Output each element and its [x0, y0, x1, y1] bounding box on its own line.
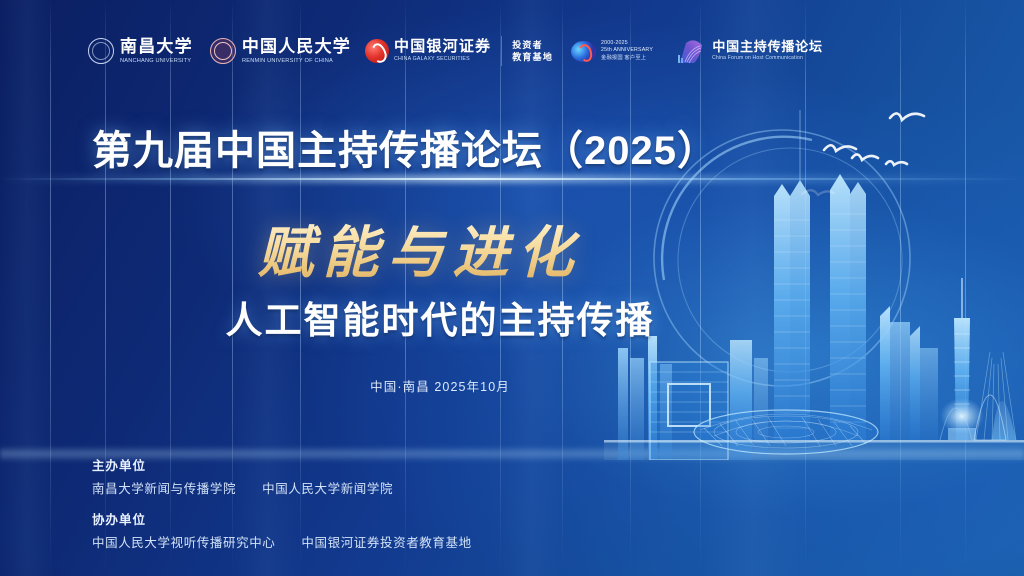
logo-25th-anniversary: 2000-2025 25th ANNIVERSARY 金融报国 客户至上 [571, 29, 656, 73]
poster-canvas: 南昌大学 NANCHANG UNIVERSITY 中国人民大学 RENMIN U… [0, 0, 1024, 576]
credit-label-co-organizers: 协办单位 [92, 509, 472, 528]
logo-renmin-university: 中国人民大学 RENMIN UNIVERSITY OF CHINA [210, 29, 351, 73]
credit-group-organizers: 主办单位 南昌大学新闻与传播学院 中国人民大学新闻学院 [92, 455, 472, 497]
title-light-streak [0, 178, 1024, 180]
flying-birds-graphic [794, 80, 994, 210]
investor-education-line1: 投资者 [512, 41, 553, 50]
seal-emblem-icon [210, 38, 236, 64]
credit-item: 中国人民大学新闻学院 [262, 478, 393, 497]
logo-renmin-university-en: RENMIN UNIVERSITY OF CHINA [242, 58, 345, 64]
galaxy-swirl-icon [365, 39, 389, 63]
credit-label-organizers: 主办单位 [92, 455, 472, 474]
page-title: 第九届中国主持传播论坛（2025） [92, 118, 718, 176]
background-vertical-line [965, 0, 966, 576]
logo-renmin-university-cn: 中国人民大学 [242, 38, 351, 55]
sponsor-logo-bar: 南昌大学 NANCHANG UNIVERSITY 中国人民大学 RENMIN U… [88, 27, 823, 75]
credit-item: 中国人民大学视听传播研究中心 [92, 532, 275, 551]
logo-nanchang-university-cn: 南昌大学 [120, 38, 196, 55]
logo-china-forum-host-communication: 中国主持传播论坛 China Forum on Host Communicati… [676, 29, 822, 73]
logo-divider [501, 36, 502, 66]
title-light-streak-glow [0, 175, 1024, 183]
logo-galaxy-en: CHINA GALAXY SECURITIES [394, 57, 485, 62]
logo-nanchang-university: 南昌大学 NANCHANG UNIVERSITY [88, 29, 196, 73]
forum-wing-icon [676, 37, 706, 65]
seal-emblem-icon [88, 38, 114, 64]
credit-group-co-organizers: 协办单位 中国人民大学视听传播研究中心 中国银河证券投资者教育基地 [92, 509, 472, 551]
anniversary-en: 25th ANNIVERSARY [601, 48, 653, 53]
credit-item: 中国银河证券投资者教育基地 [301, 532, 471, 551]
logo-nanchang-university-en: NANCHANG UNIVERSITY [120, 58, 191, 64]
venue-date-text: 中国·南昌 2025年10月 [0, 376, 880, 395]
anniversary-slogan: 金融报国 客户至上 [601, 56, 653, 61]
credit-item: 南昌大学新闻与传播学院 [92, 478, 236, 497]
logo-forum-en: China Forum on Host Communication [712, 56, 816, 61]
anniversary-years: 2000-2025 [601, 41, 653, 46]
logo-china-galaxy-securities: 中国银河证券 CHINA GALAXY SECURITIES 投资者 教育基地 [365, 29, 553, 73]
logo-forum-cn: 中国主持传播论坛 [712, 40, 822, 53]
logo-galaxy-cn: 中国银河证券 [394, 39, 491, 54]
background-vertical-line [900, 0, 901, 576]
investor-education-line2: 教育基地 [512, 53, 553, 62]
sub-theme-title: 人工智能时代的主持传播 [0, 290, 880, 344]
anniversary-swirl-icon [571, 41, 596, 62]
credits-block: 主办单位 南昌大学新闻与传播学院 中国人民大学新闻学院 协办单位 中国人民大学视… [92, 455, 472, 563]
gold-theme-title: 赋能与进化 [0, 208, 840, 289]
